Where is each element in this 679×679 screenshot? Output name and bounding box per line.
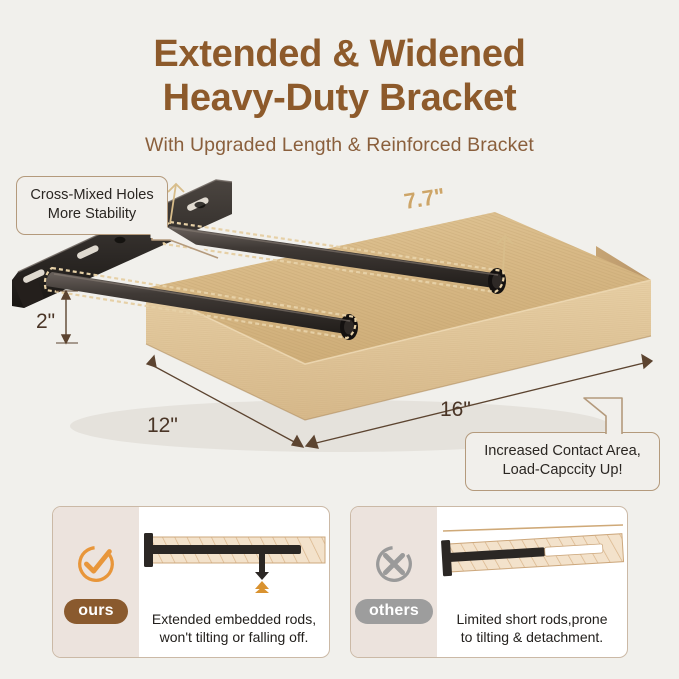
callout-contact-line-2: Load-Capccity Up!: [478, 461, 647, 480]
ours-badge-column: ours: [53, 507, 139, 657]
x-circle-icon: [371, 541, 417, 587]
badge-ours: ours: [64, 599, 127, 624]
dimension-label-depth: 12": [147, 414, 178, 438]
others-caption-line-1: Limited short rods,prone: [445, 610, 619, 629]
others-badge-column: others: [351, 507, 437, 657]
comparison-section: ours: [0, 500, 679, 670]
dimension-label-width: 16": [440, 398, 471, 422]
dimension-label-thickness: 2": [36, 310, 55, 334]
page-title: Extended & Widened Heavy-Duty Bracket: [0, 32, 679, 121]
thickness-dimension: [56, 291, 78, 343]
others-cross-section-diagram: [437, 515, 628, 593]
callout-contact-line-1: Increased Contact Area,: [478, 442, 647, 461]
ours-content-column: Extended embedded rods, won't tilting or…: [139, 507, 329, 657]
title-line-2: Heavy-Duty Bracket: [0, 76, 679, 120]
ours-caption-line-1: Extended embedded rods,: [147, 610, 321, 629]
others-content-column: Limited short rods,prone to tilting & de…: [437, 507, 627, 657]
ours-cross-section-diagram: [139, 515, 330, 593]
title-line-1: Extended & Widened: [153, 33, 525, 75]
page-subtitle: With Upgraded Length & Reinforced Bracke…: [0, 134, 679, 157]
comparison-panel-others: others: [350, 506, 628, 658]
ours-caption-line-2: won't tilting or falling off.: [147, 628, 321, 647]
others-caption: Limited short rods,prone to tilting & de…: [437, 610, 627, 648]
callout-holes-line-1: Cross-Mixed Holes: [29, 186, 155, 205]
check-circle-icon: [73, 541, 119, 587]
badge-others: others: [355, 599, 433, 624]
infographic-canvas: Extended & Widened Heavy-Duty Bracket Wi…: [0, 0, 679, 679]
callout-holes-line-2: More Stability: [29, 205, 155, 224]
callout-cross-mixed-holes: Cross-Mixed Holes More Stability: [16, 176, 168, 235]
comparison-panel-ours: ours: [52, 506, 330, 658]
ours-caption: Extended embedded rods, won't tilting or…: [139, 610, 329, 648]
callout-increased-contact-area: Increased Contact Area, Load-Capccity Up…: [465, 432, 660, 491]
others-caption-line-2: to tilting & detachment.: [445, 628, 619, 647]
upward-arrow-icon: [255, 581, 269, 593]
